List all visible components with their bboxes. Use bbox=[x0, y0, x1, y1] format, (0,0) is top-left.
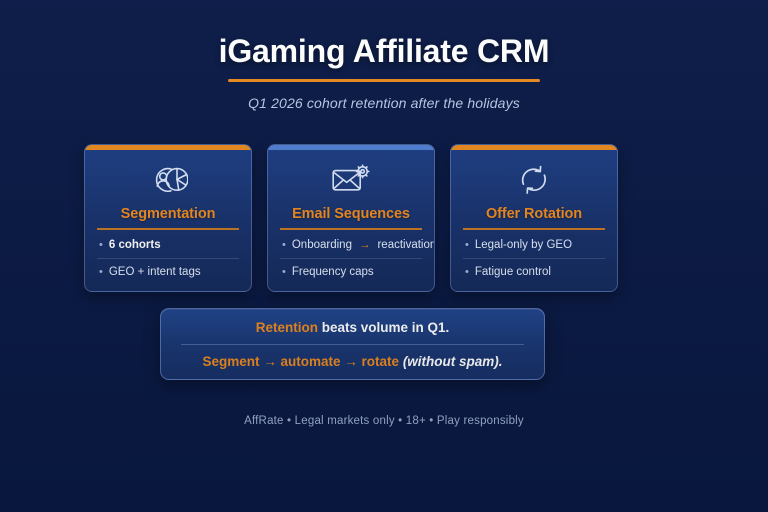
card-title: Offer Rotation bbox=[486, 206, 582, 222]
page-subtitle: Q1 2026 cohort retention after the holid… bbox=[0, 95, 768, 111]
segmentation-pie-person-icon bbox=[148, 161, 188, 199]
callout-word-segment: Segment bbox=[202, 354, 259, 369]
email-gear-icon bbox=[330, 161, 372, 199]
bullet-text-pre: Onboarding bbox=[292, 239, 352, 251]
slide-canvas: iGaming Affiliate CRM Q1 2026 cohort ret… bbox=[0, 0, 768, 512]
card-bullet-list: • Onboarding → reactivation • Frequency … bbox=[280, 232, 422, 285]
page-title: iGaming Affiliate CRM bbox=[0, 34, 768, 69]
card-email-sequences[interactable]: Email Sequences • Onboarding → reactivat… bbox=[267, 144, 435, 292]
bullet-text: Fatigue control bbox=[475, 266, 551, 278]
callout-word-rotate: rotate bbox=[362, 354, 400, 369]
callout-highlight: Retention bbox=[256, 320, 318, 335]
bullet-text: Legal-only by GEO bbox=[475, 239, 572, 251]
list-item: • Fatigue control bbox=[463, 258, 605, 285]
bullet-dot: • bbox=[282, 267, 286, 278]
arrow-right-icon: → bbox=[344, 354, 358, 369]
card-title: Segmentation bbox=[121, 206, 216, 222]
list-item: • Onboarding → reactivation bbox=[280, 232, 422, 258]
bullet-dot: • bbox=[99, 267, 103, 278]
arrow-right-icon: → bbox=[263, 354, 277, 369]
list-item: • Legal-only by GEO bbox=[463, 232, 605, 258]
slide-header: iGaming Affiliate CRM Q1 2026 cohort ret… bbox=[0, 34, 768, 111]
callout-mid: beats bbox=[322, 320, 357, 335]
card-bullet-list: • Legal-only by GEO • Fatigue control bbox=[463, 232, 605, 285]
callout-parenthetical: (without spam). bbox=[403, 354, 503, 369]
card-title-rule bbox=[280, 228, 422, 230]
card-bullet-list: • 6 cohorts • GEO + intent tags bbox=[97, 232, 239, 285]
callout-tail: volume in Q1. bbox=[361, 320, 450, 335]
bullet-text: Frequency caps bbox=[292, 266, 374, 278]
list-item: • GEO + intent tags bbox=[97, 258, 239, 285]
card-title: Email Sequences bbox=[292, 206, 410, 222]
callout-line-1: Retention beats volume in Q1. bbox=[181, 320, 524, 344]
title-underline-rule bbox=[228, 79, 540, 82]
card-accent-bar bbox=[268, 145, 434, 150]
list-item: • Frequency caps bbox=[280, 258, 422, 285]
card-accent-bar bbox=[451, 145, 617, 150]
bullet-text: 6 cohorts bbox=[109, 239, 161, 251]
bullet-dot: • bbox=[99, 240, 103, 251]
bullet-text: GEO + intent tags bbox=[109, 266, 201, 278]
card-title-rule bbox=[97, 228, 239, 230]
arrow-right-icon: → bbox=[358, 239, 372, 251]
list-item: • 6 cohorts bbox=[97, 232, 239, 258]
card-offer-rotation[interactable]: Offer Rotation • Legal-only by GEO • Fat… bbox=[450, 144, 618, 292]
offer-rotation-icon bbox=[515, 161, 553, 199]
bullet-text-post: reactivation bbox=[377, 239, 435, 251]
bullet-dot: • bbox=[465, 240, 469, 251]
bullet-dot: • bbox=[282, 240, 286, 251]
feature-card-row: Segmentation • 6 cohorts • GEO + intent … bbox=[84, 144, 618, 292]
callout-line-2: Segment → automate → rotate (without spa… bbox=[181, 345, 524, 369]
footer-disclaimer: AffRate • Legal markets only • 18+ • Pla… bbox=[0, 415, 768, 427]
card-segmentation[interactable]: Segmentation • 6 cohorts • GEO + intent … bbox=[84, 144, 252, 292]
key-takeaway-callout: Retention beats volume in Q1. Segment → … bbox=[160, 308, 545, 380]
callout-word-automate: automate bbox=[280, 354, 340, 369]
card-title-rule bbox=[463, 228, 605, 230]
card-accent-bar bbox=[85, 145, 251, 150]
bullet-dot: • bbox=[465, 267, 469, 278]
